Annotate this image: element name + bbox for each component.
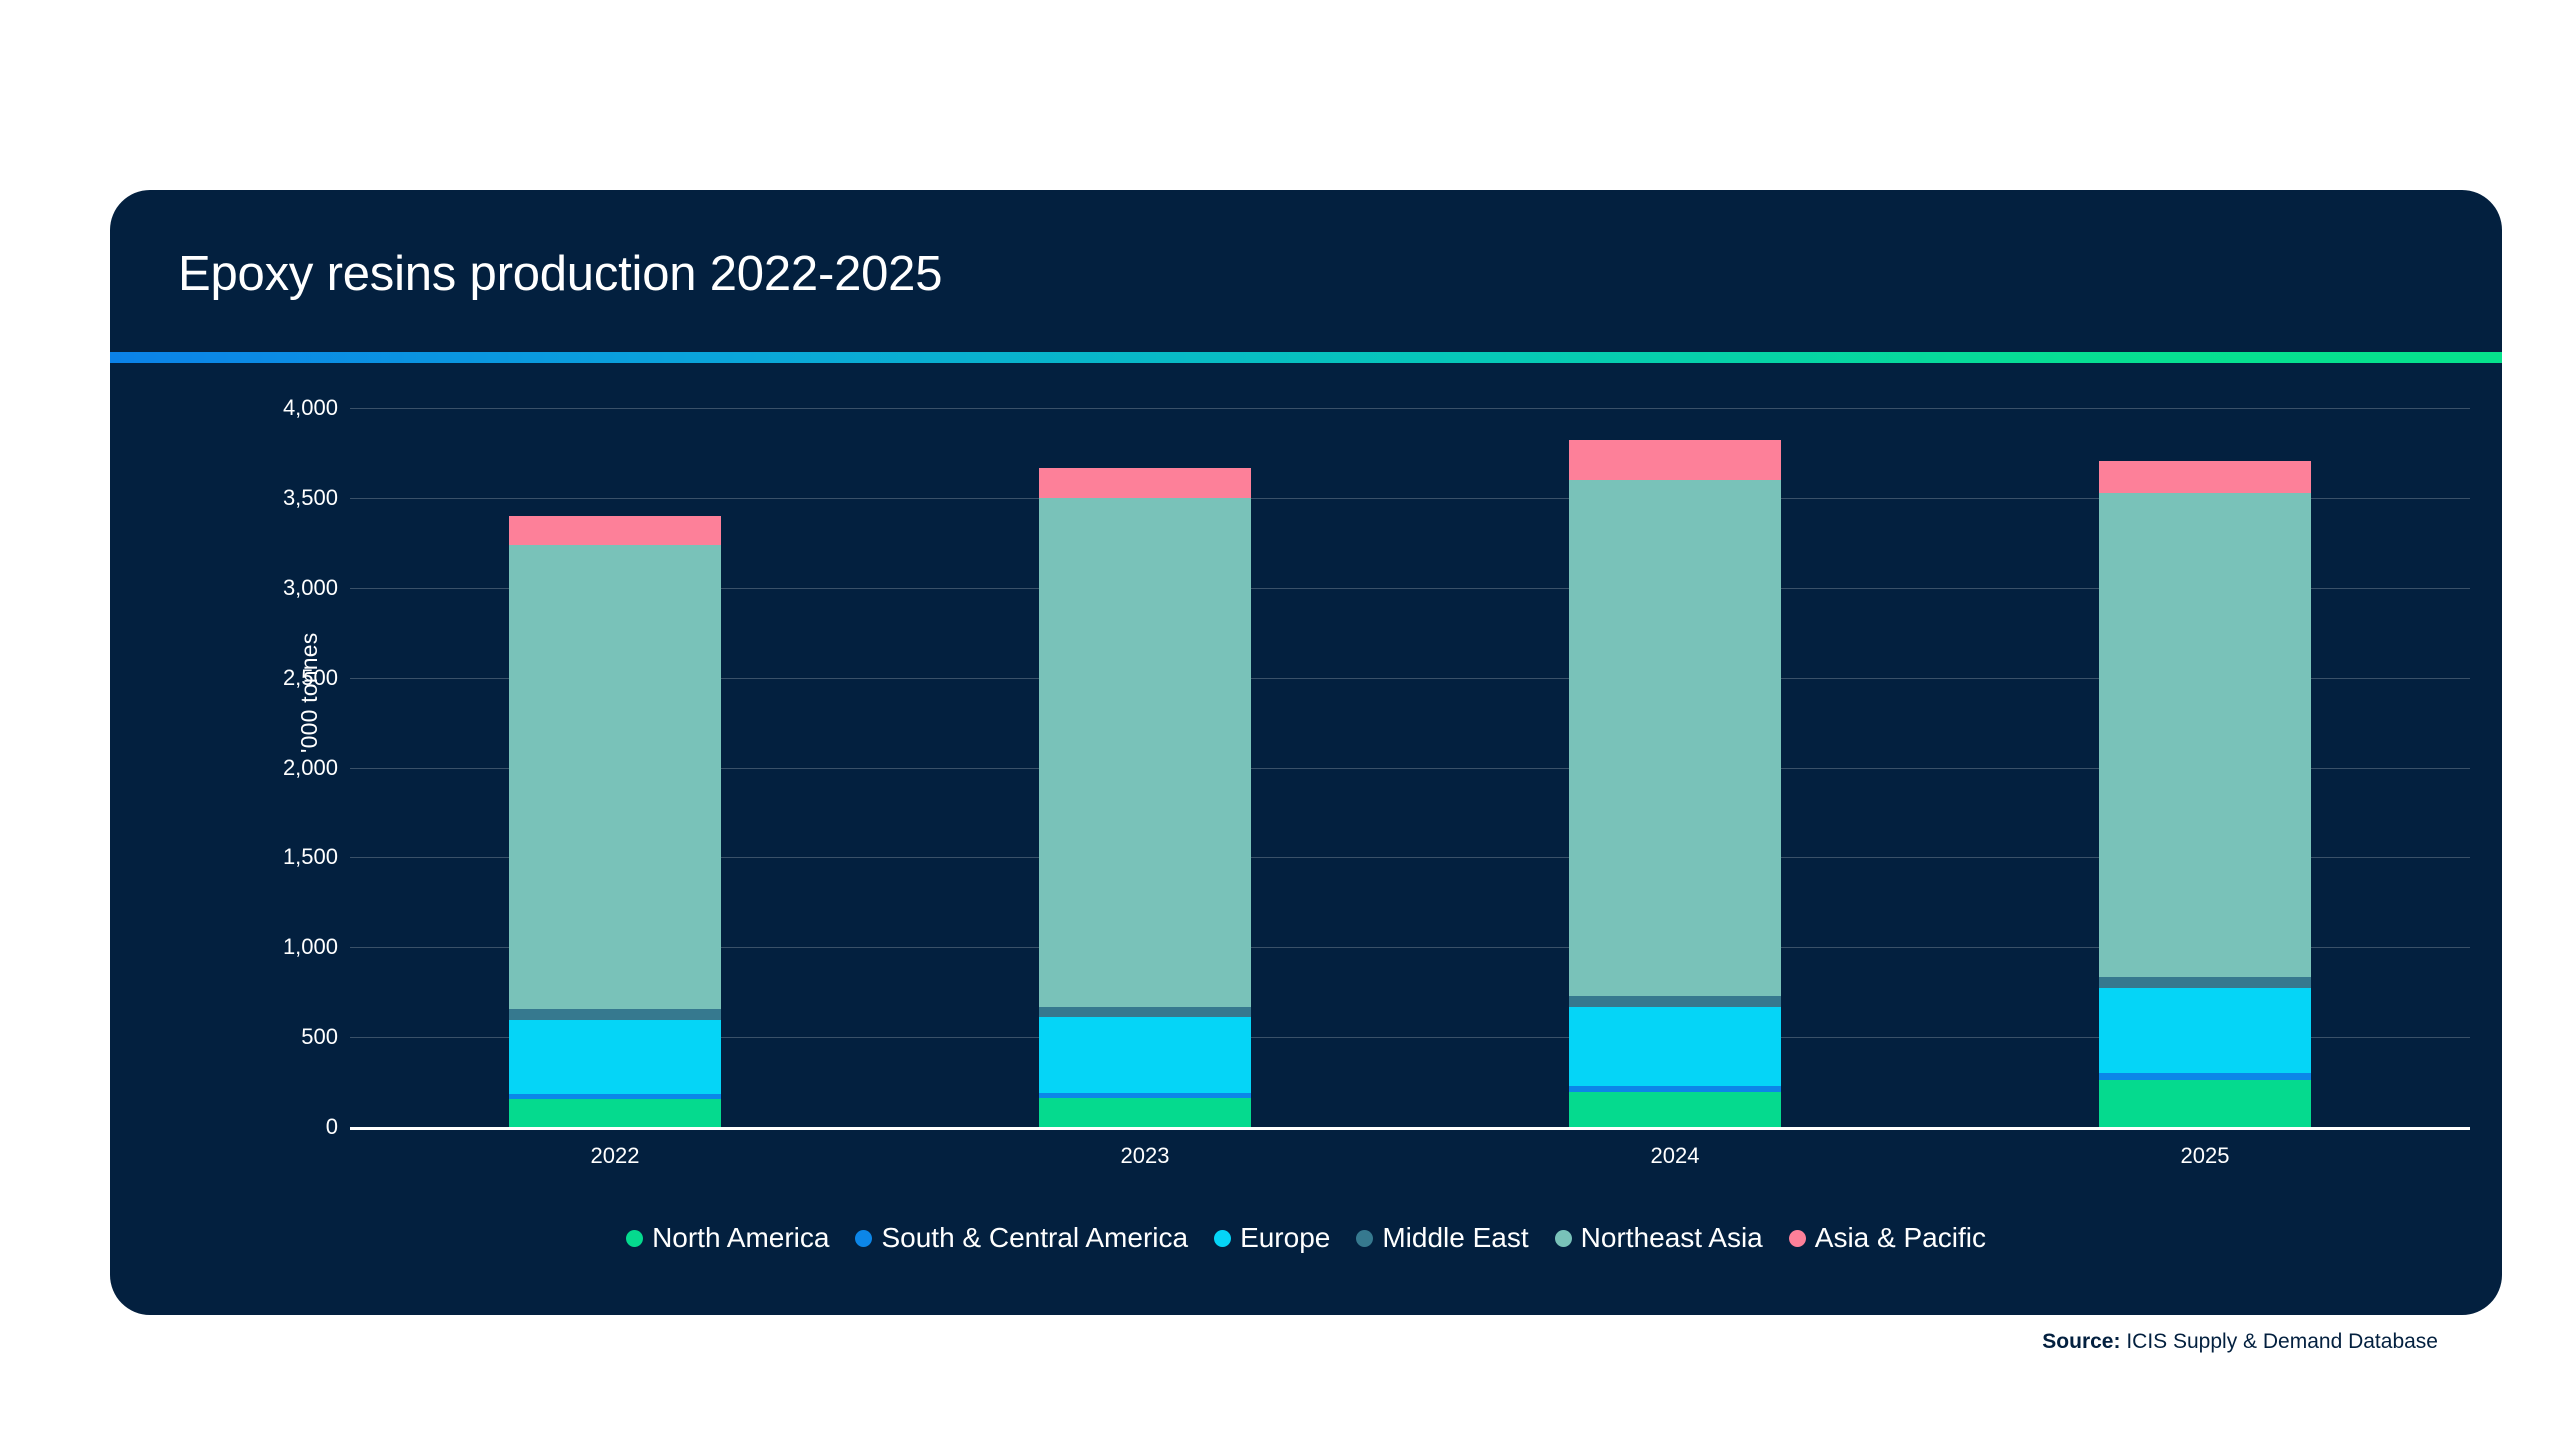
bar-segment[interactable]	[2099, 1080, 2311, 1127]
legend-color-dot-icon	[1356, 1230, 1373, 1247]
x-axis-tick-label: 2025	[2099, 1143, 2311, 1169]
bar-group[interactable]: 2024	[1569, 408, 1781, 1127]
page-root: Epoxy resins production 2022-2025 '000 t…	[0, 0, 2560, 1440]
chart-card: Epoxy resins production 2022-2025 '000 t…	[110, 190, 2502, 1315]
y-axis-tick-label: 2,000	[283, 755, 338, 781]
legend-item[interactable]: Middle East	[1356, 1222, 1528, 1254]
bar-segment[interactable]	[1039, 1098, 1251, 1127]
legend-item-label: Northeast Asia	[1581, 1222, 1763, 1254]
legend-item[interactable]: Europe	[1214, 1222, 1330, 1254]
bar-group[interactable]: 2022	[509, 408, 721, 1127]
bar-segment[interactable]	[1039, 1007, 1251, 1018]
x-axis-tick-label: 2023	[1039, 1143, 1251, 1169]
bar-segment[interactable]	[509, 516, 721, 545]
page-title: Epoxy resins production 2022-2025	[178, 246, 942, 302]
x-axis-tick-label: 2024	[1569, 1143, 1781, 1169]
y-axis-tick-label: 4,000	[283, 395, 338, 421]
bar-segment[interactable]	[1569, 996, 1781, 1007]
bar-segment[interactable]	[509, 1009, 721, 1020]
legend-item-label: Europe	[1240, 1222, 1330, 1254]
source-text: ICIS Supply & Demand Database	[2120, 1330, 2438, 1353]
legend-color-dot-icon	[1789, 1230, 1806, 1247]
bar-series-container: 2022202320242025	[350, 408, 2470, 1127]
bar-group[interactable]: 2023	[1039, 408, 1251, 1127]
y-axis-tick-label: 3,500	[283, 485, 338, 511]
y-axis-tick-label: 2,500	[283, 665, 338, 691]
y-axis-tick-label: 0	[326, 1114, 338, 1140]
y-axis-tick-label: 3,000	[283, 575, 338, 601]
bar-segment[interactable]	[2099, 493, 2311, 977]
bar-segment[interactable]	[1039, 498, 1251, 1007]
bar-stack[interactable]	[1569, 440, 1781, 1128]
bar-segment[interactable]	[509, 1099, 721, 1127]
accent-gradient-bar	[110, 352, 2502, 363]
legend-color-dot-icon	[1214, 1230, 1231, 1247]
legend-item[interactable]: Northeast Asia	[1555, 1222, 1763, 1254]
legend-item[interactable]: South & Central America	[855, 1222, 1188, 1254]
legend-item-label: Middle East	[1382, 1222, 1528, 1254]
legend-color-dot-icon	[855, 1230, 872, 1247]
legend-item[interactable]: Asia & Pacific	[1789, 1222, 1986, 1254]
bar-segment[interactable]	[2099, 988, 2311, 1073]
bar-segment[interactable]	[1569, 1007, 1781, 1086]
bar-segment[interactable]	[1039, 468, 1251, 498]
x-axis-baseline	[350, 1127, 2470, 1130]
bar-segment[interactable]	[2099, 1073, 2311, 1080]
bar-segment[interactable]	[2099, 977, 2311, 988]
legend-color-dot-icon	[626, 1230, 643, 1247]
y-axis-tick-label: 500	[301, 1024, 338, 1050]
legend-item-label: North America	[652, 1222, 829, 1254]
x-axis-tick-label: 2022	[509, 1143, 721, 1169]
chart-legend: North AmericaSouth & Central AmericaEuro…	[110, 1222, 2502, 1254]
source-note: Source: ICIS Supply & Demand Database	[2042, 1330, 2438, 1354]
y-axis-tick-label: 1,000	[283, 934, 338, 960]
source-label: Source:	[2042, 1330, 2120, 1353]
bar-stack[interactable]	[509, 516, 721, 1127]
bar-stack[interactable]	[1039, 468, 1251, 1127]
grid-area: 05001,0001,5002,0002,5003,0003,5004,000 …	[350, 408, 2470, 1127]
bar-segment[interactable]	[1569, 480, 1781, 996]
legend-item-label: Asia & Pacific	[1815, 1222, 1986, 1254]
bar-group[interactable]: 2025	[2099, 408, 2311, 1127]
bar-segment[interactable]	[1039, 1017, 1251, 1092]
legend-item[interactable]: North America	[626, 1222, 829, 1254]
legend-item-label: South & Central America	[881, 1222, 1188, 1254]
chart-plot-area: '000 tonnes 05001,0001,5002,0002,5003,00…	[110, 363, 2502, 1183]
y-axis-tick-label: 1,500	[283, 844, 338, 870]
bar-segment[interactable]	[1569, 440, 1781, 480]
bar-stack[interactable]	[2099, 461, 2311, 1127]
bar-segment[interactable]	[509, 1020, 721, 1094]
bar-segment[interactable]	[1569, 1092, 1781, 1127]
legend-color-dot-icon	[1555, 1230, 1572, 1247]
bar-segment[interactable]	[2099, 461, 2311, 492]
bar-segment[interactable]	[509, 545, 721, 1010]
